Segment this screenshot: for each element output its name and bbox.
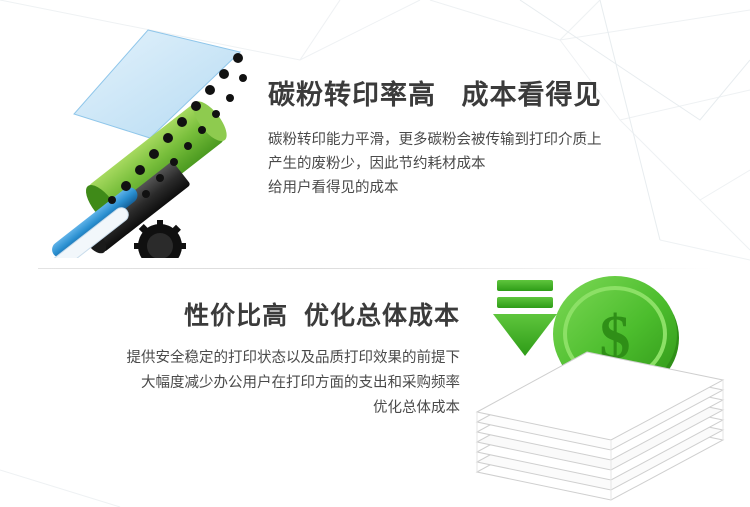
section1-body-line-3: 给用户看得见的成本 xyxy=(268,176,728,200)
coin-paper-stack-illustration: $ xyxy=(455,272,735,502)
paper-stack xyxy=(477,352,723,500)
section1-body-line-1: 碳粉转印能力平滑，更多碳粉会被传输到打印介质上 xyxy=(268,128,728,152)
section1-body: 碳粉转印能力平滑，更多碳粉会被传输到打印介质上 产生的废粉少，因此节约耗材成本 … xyxy=(268,128,728,200)
toner-transfer-text-block: 碳粉转印率高 成本看得见 碳粉转印能力平滑，更多碳粉会被传输到打印介质上 产生的… xyxy=(268,78,728,200)
cost-performance-text-block: 性价比高 优化总体成本 提供安全稳定的打印状态以及品质打印效果的前提下 大幅度减… xyxy=(20,300,460,421)
section2-body-line-1: 提供安全稳定的打印状态以及品质打印效果的前提下 xyxy=(20,346,460,371)
section-divider xyxy=(38,268,714,269)
section2-title: 性价比高 优化总体成本 xyxy=(20,300,460,332)
section2-body-line-3: 优化总体成本 xyxy=(20,396,460,421)
gear-icon xyxy=(134,220,186,258)
drum-unit-illustration xyxy=(30,18,270,258)
section2-body: 提供安全稳定的打印状态以及品质打印效果的前提下 大幅度减少办公用户在打印方面的支… xyxy=(20,346,460,421)
section1-body-line-2: 产生的废粉少，因此节约耗材成本 xyxy=(268,152,728,176)
down-arrow-icon xyxy=(493,280,557,356)
promo-page: 碳粉转印率高 成本看得见 碳粉转印能力平滑，更多碳粉会被传输到打印介质上 产生的… xyxy=(0,0,750,507)
section1-title: 碳粉转印率高 成本看得见 xyxy=(268,78,728,112)
section2-body-line-2: 大幅度减少办公用户在打印方面的支出和采购频率 xyxy=(20,371,460,396)
